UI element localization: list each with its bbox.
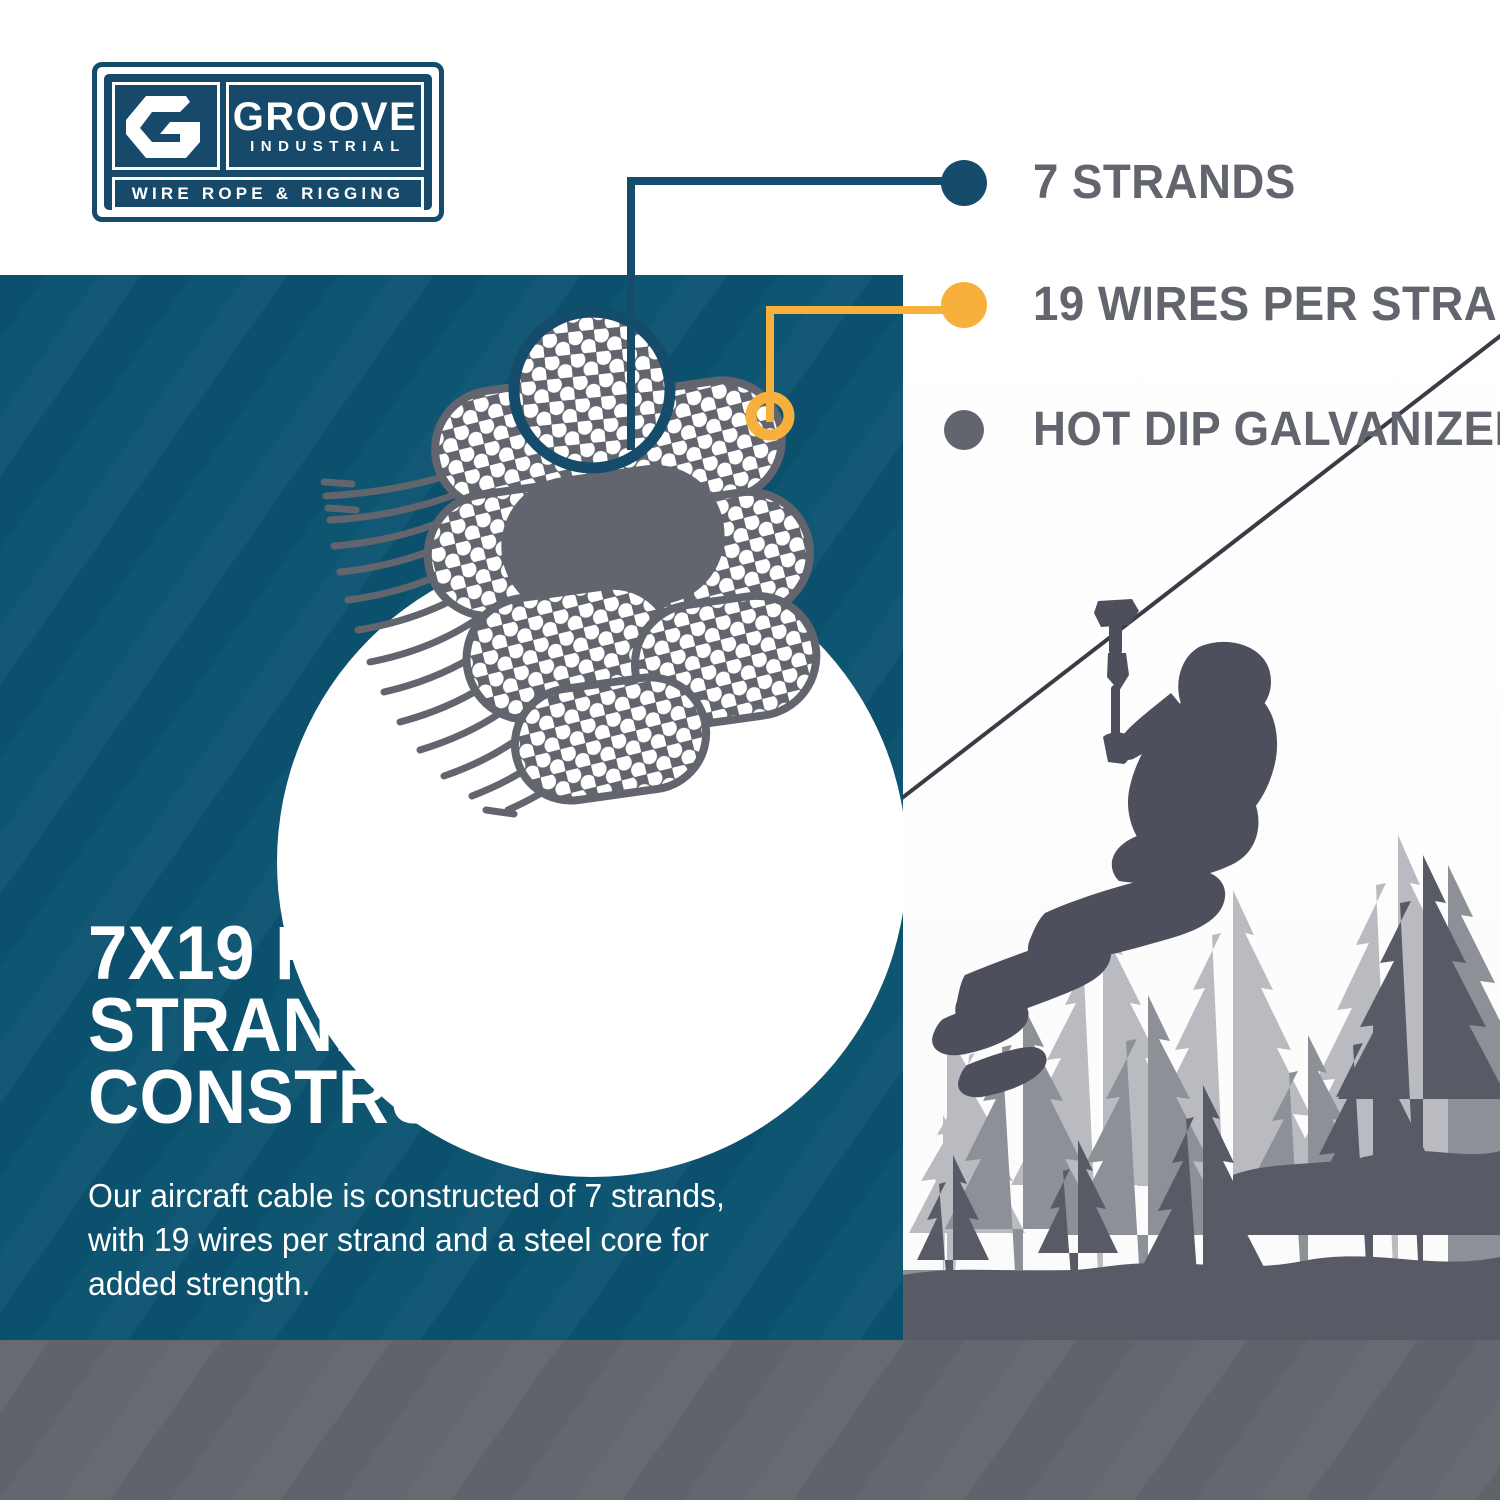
logo-wordmark-box: GROOVE INDUSTRIAL bbox=[226, 82, 424, 170]
callout-label: HOT DIP GALVANIZED bbox=[1033, 402, 1500, 457]
footer-texture bbox=[0, 1340, 1500, 1500]
headline-block: 7X19 FLEXIBLE STRAND CONSTRUCTION Our ai… bbox=[88, 918, 878, 1306]
logo-name-secondary: INDUSTRIAL bbox=[250, 138, 406, 155]
page-subcopy: Our aircraft cable is constructed of 7 s… bbox=[88, 1174, 767, 1306]
footer-band bbox=[0, 1340, 1500, 1500]
infographic-canvas: 7 STRANDS 19 WIRES PER STRAND HOT DIP GA… bbox=[0, 0, 1500, 1500]
callout-dot-blue bbox=[941, 160, 987, 206]
callout-7-strands[interactable]: 7 STRANDS bbox=[941, 155, 1310, 210]
callout-label: 7 STRANDS bbox=[1033, 155, 1296, 210]
callout-hot-dip-galvanized[interactable]: HOT DIP GALVANIZED bbox=[944, 402, 1500, 457]
callout-dot-orange bbox=[941, 282, 987, 328]
groove-g-icon bbox=[112, 82, 220, 170]
page-title: 7X19 FLEXIBLE STRAND CONSTRUCTION bbox=[88, 918, 823, 1134]
logo-tagline-box: WIRE ROPE & RIGGING bbox=[112, 177, 424, 210]
logo-name-primary: GROOVE bbox=[233, 98, 418, 136]
brand-logo[interactable]: GROOVE INDUSTRIAL WIRE ROPE & RIGGING bbox=[92, 62, 444, 222]
callout-19-wires-per-strand[interactable]: 19 WIRES PER STRAND bbox=[941, 277, 1500, 332]
logo-tagline: WIRE ROPE & RIGGING bbox=[132, 184, 404, 204]
callout-dot-gray bbox=[944, 410, 984, 450]
logo-outer-frame: GROOVE INDUSTRIAL WIRE ROPE & RIGGING bbox=[92, 62, 444, 222]
logo-inner-fill: GROOVE INDUSTRIAL WIRE ROPE & RIGGING bbox=[104, 74, 432, 210]
connector-line-orange bbox=[770, 310, 952, 422]
callout-label: 19 WIRES PER STRAND bbox=[1033, 277, 1500, 332]
callout-connectors bbox=[600, 160, 1000, 450]
